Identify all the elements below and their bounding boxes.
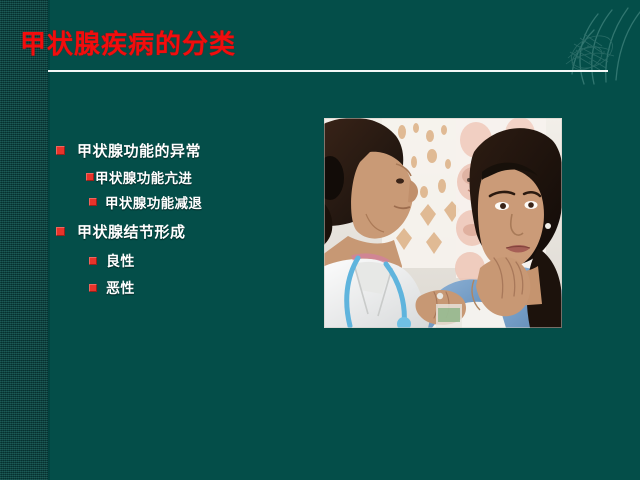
list-item: 恶性	[52, 278, 312, 298]
page-title: 甲状腺疾病的分类	[20, 24, 236, 61]
list-item-label: 甲状腺功能减退	[105, 192, 202, 212]
bullet-square-icon	[89, 257, 97, 265]
list-item: 甲状腺功能亢进	[52, 167, 312, 187]
clinical-photo	[324, 118, 562, 328]
list-item: 甲状腺结节形成	[52, 221, 312, 242]
list-item-label: 甲状腺功能的异常	[77, 140, 201, 161]
title-divider-rule	[48, 70, 608, 72]
bullet-square-icon	[89, 284, 97, 292]
bullet-square-icon	[89, 198, 97, 206]
list-item-label: 甲状腺结节形成	[77, 221, 186, 242]
list-item: 甲状腺功能的异常	[52, 140, 312, 161]
list-item-label: 甲状腺功能亢进	[95, 167, 192, 187]
list-item-label: 恶性	[106, 278, 135, 298]
bullet-list: 甲状腺功能的异常 甲状腺功能亢进 甲状腺功能减退 甲状腺结节形成 良性 恶性	[52, 140, 312, 305]
bullet-square-icon	[86, 173, 94, 181]
slide-left-texture-band	[0, 0, 48, 480]
slide-left-band-edge	[48, 0, 50, 480]
list-item-label: 良性	[106, 251, 135, 271]
floral-butterfly-ornament	[554, 0, 640, 86]
list-item: 良性	[52, 251, 312, 271]
bullet-square-icon	[56, 146, 65, 155]
bullet-square-icon	[56, 227, 65, 236]
clinical-photo-frame	[320, 114, 566, 332]
presentation-slide: 甲状腺疾病的分类 甲状腺功能的异常 甲状腺功能亢进 甲状腺功能减退 甲状腺结节形…	[0, 0, 640, 480]
list-item: 甲状腺功能减退	[52, 192, 312, 212]
